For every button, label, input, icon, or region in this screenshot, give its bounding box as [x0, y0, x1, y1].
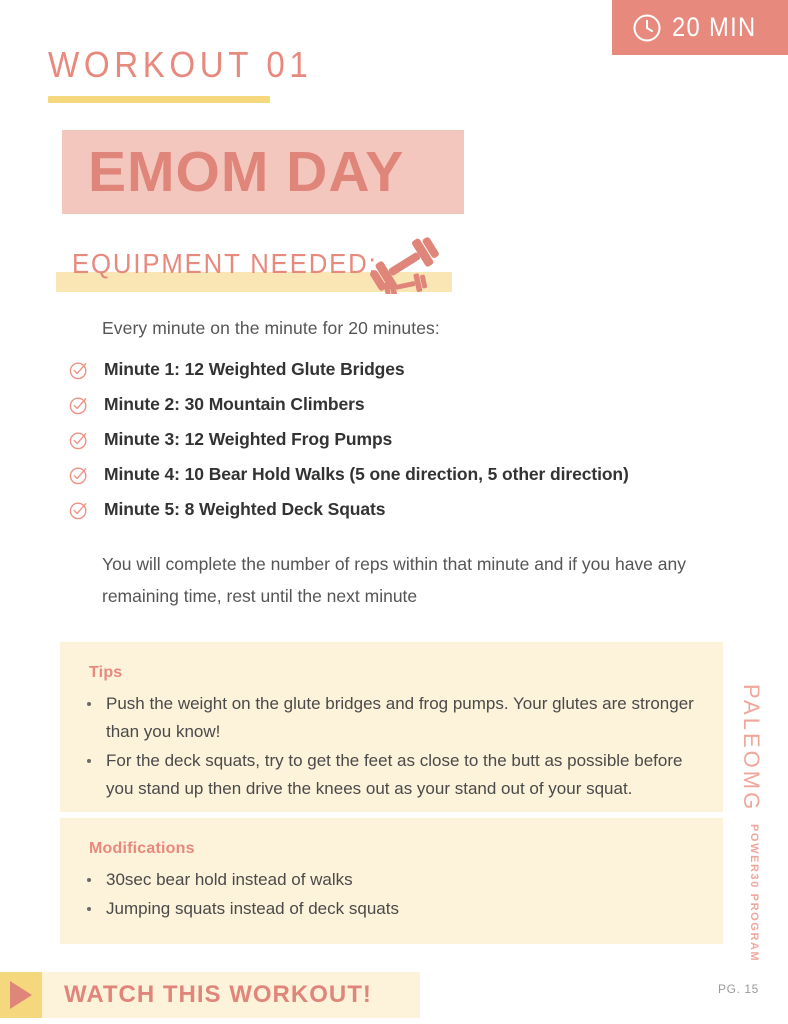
page-title-block: EMOM DAY — [62, 130, 464, 214]
watch-workout-label: WATCH THIS WORKOUT! — [64, 981, 372, 1009]
tips-list-item: Push the weight on the glute bridges and… — [74, 690, 703, 746]
page-title: EMOM DAY — [88, 139, 404, 205]
play-triangle-icon — [10, 981, 32, 1009]
bullet-icon — [87, 878, 91, 882]
modifications-item-text: 30sec bear hold instead of walks — [106, 870, 353, 889]
minute-label: Minute 2: 30 Mountain Climbers — [104, 394, 365, 415]
check-circle-icon — [68, 359, 90, 381]
clock-icon — [632, 13, 662, 43]
tips-item-text: For the deck squats, try to get the feet… — [106, 751, 682, 798]
check-circle-icon — [68, 429, 90, 451]
check-circle-icon — [68, 464, 90, 486]
minute-label: Minute 3: 12 Weighted Frog Pumps — [104, 429, 392, 450]
timer-label: 20 MIN — [672, 12, 757, 43]
dumbbells-icon — [354, 232, 464, 294]
minutes-list: Minute 1: 12 Weighted Glute Bridges Minu… — [68, 352, 748, 527]
minute-list-item: Minute 1: 12 Weighted Glute Bridges — [68, 352, 748, 387]
check-circle-icon — [68, 499, 90, 521]
tips-title: Tips — [89, 664, 122, 682]
heading-underline-rule — [48, 96, 270, 103]
workout-heading-text: WORKOUT 01 — [48, 44, 416, 86]
bullet-icon — [87, 702, 91, 706]
workout-heading: WORKOUT 01 — [48, 44, 448, 103]
workout-note: You will complete the number of reps wit… — [102, 548, 727, 612]
minute-label: Minute 5: 8 Weighted Deck Squats — [104, 499, 385, 520]
minute-label: Minute 1: 12 Weighted Glute Bridges — [104, 359, 405, 380]
page-number: PG. 15 — [718, 982, 759, 996]
minute-label: Minute 4: 10 Bear Hold Walks (5 one dire… — [104, 464, 629, 485]
equipment-label: EQUIPMENT NEEDED: — [72, 248, 378, 280]
tips-box: Tips Push the weight on the glute bridge… — [60, 642, 723, 812]
bullet-icon — [87, 907, 91, 911]
minute-list-item: Minute 2: 30 Mountain Climbers — [68, 387, 748, 422]
minute-list-item: Minute 4: 10 Bear Hold Walks (5 one dire… — [68, 457, 748, 492]
modifications-item-text: Jumping squats instead of deck squats — [106, 899, 399, 918]
tips-item-text: Push the weight on the glute bridges and… — [106, 694, 694, 741]
brand-vertical: PALEOMG POWER30 PROGRAM — [742, 684, 776, 934]
modifications-list-item: Jumping squats instead of deck squats — [74, 895, 703, 923]
modifications-title: Modifications — [89, 840, 195, 858]
minute-list-item: Minute 5: 8 Weighted Deck Squats — [68, 492, 748, 527]
brand-subtitle: POWER30 PROGRAM — [748, 824, 760, 962]
modifications-box: Modifications 30sec bear hold instead of… — [60, 818, 723, 944]
minute-list-item: Minute 3: 12 Weighted Frog Pumps — [68, 422, 748, 457]
check-circle-icon — [68, 394, 90, 416]
workout-intro-line: Every minute on the minute for 20 minute… — [102, 318, 440, 339]
equipment-section: EQUIPMENT NEEDED: — [62, 248, 482, 294]
tips-list: Push the weight on the glute bridges and… — [74, 690, 703, 804]
bullet-icon — [87, 759, 91, 763]
watch-workout-button[interactable]: WATCH THIS WORKOUT! — [0, 972, 420, 1018]
timer-badge: 20 MIN — [612, 0, 788, 55]
brand-name: PALEOMG — [738, 684, 764, 812]
tips-list-item: For the deck squats, try to get the feet… — [74, 747, 703, 803]
modifications-list-item: 30sec bear hold instead of walks — [74, 866, 703, 894]
modifications-list: 30sec bear hold instead of walks Jumping… — [74, 866, 703, 924]
play-chip[interactable] — [0, 972, 42, 1018]
